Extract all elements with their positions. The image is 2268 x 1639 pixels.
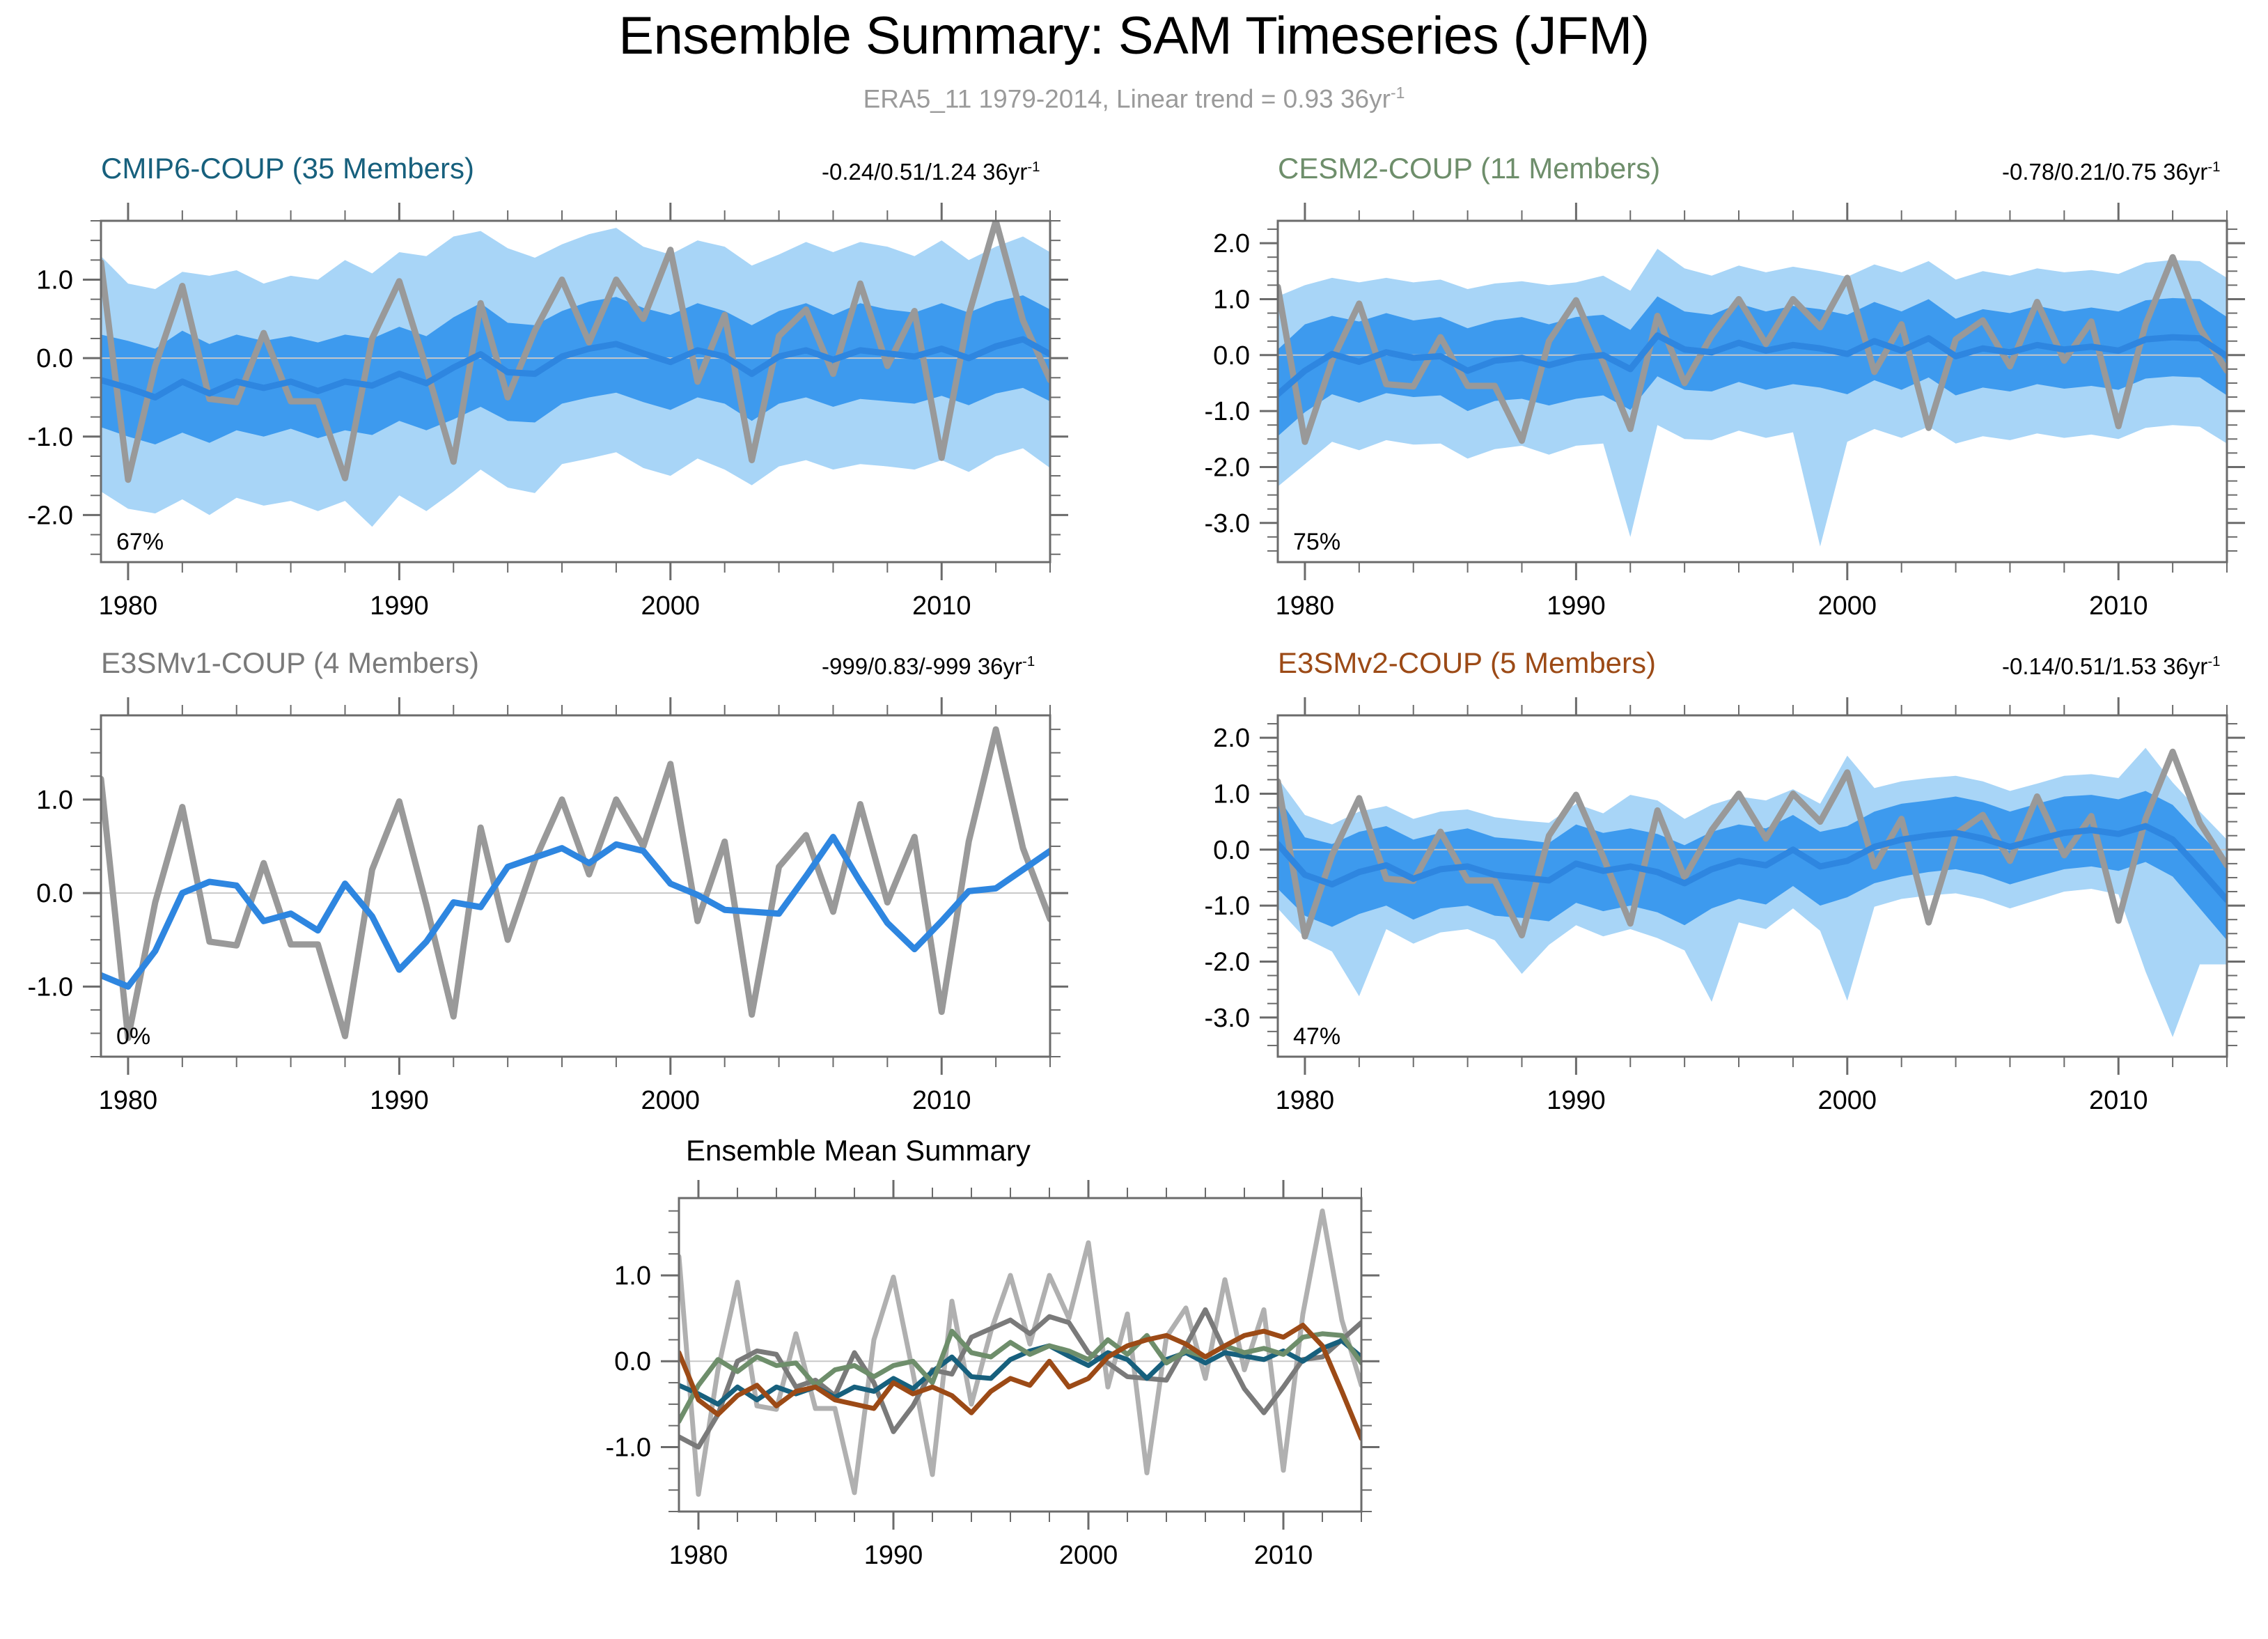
series-line	[101, 729, 1050, 1038]
x-tick-label: 2010	[912, 1086, 971, 1115]
y-tick-label: -1.0	[28, 972, 73, 1002]
y-tick-label: -3.0	[1205, 1004, 1250, 1033]
x-tick-label: 2010	[2089, 1086, 2148, 1115]
x-tick-label: 2000	[641, 1086, 701, 1115]
y-tick-label: 1.0	[1213, 285, 1250, 314]
y-tick-label: -1.0	[28, 423, 73, 452]
figure-canvas: Ensemble Summary: SAM Timeseries (JFM) E…	[0, 0, 2268, 1639]
x-tick-label: 2000	[1818, 1086, 1877, 1115]
x-tick-label: 1990	[370, 1086, 429, 1115]
x-tick-label: 2010	[1254, 1541, 1313, 1570]
y-tick-label: 0.0	[1213, 341, 1250, 371]
x-tick-label: 1980	[669, 1541, 728, 1570]
y-tick-label: -1.0	[1205, 397, 1250, 426]
y-tick-label: -2.0	[1205, 453, 1250, 482]
y-tick-label: 0.0	[36, 879, 73, 908]
x-tick-label: 1980	[1276, 1086, 1335, 1115]
plot-ensemble-mean-summary: 1.00.0-1.01980199020002010	[571, 1156, 1602, 1616]
x-tick-label: 1990	[864, 1541, 923, 1570]
y-tick-label: 0.0	[1213, 836, 1250, 865]
coverage-percent-label: 0%	[116, 1023, 150, 1050]
y-tick-label: -2.0	[1205, 947, 1250, 977]
x-tick-label: 1990	[1547, 1086, 1606, 1115]
y-tick-label: 0.0	[36, 344, 73, 373]
plot-frame	[101, 715, 1050, 1057]
y-tick-label: 2.0	[1213, 724, 1250, 753]
y-tick-label: 1.0	[36, 786, 73, 815]
y-tick-label: 1.0	[1213, 779, 1250, 809]
plot-e3smv1: 1.00.0-1.019801990200020100%	[0, 495, 1114, 1121]
y-tick-label: 0.0	[614, 1347, 651, 1376]
y-tick-label: -1.0	[606, 1434, 651, 1463]
y-tick-label: -1.0	[1205, 892, 1250, 921]
coverage-percent-label: 47%	[1293, 1023, 1340, 1050]
x-tick-label: 2000	[1059, 1541, 1118, 1570]
plot-e3smv2: 2.01.00.0-1.0-2.0-3.0198019902000201047%	[1177, 495, 2268, 1121]
y-tick-label: 2.0	[1213, 229, 1250, 258]
y-tick-label: 1.0	[614, 1261, 651, 1291]
x-tick-label: 1980	[99, 1086, 158, 1115]
y-tick-label: 1.0	[36, 265, 73, 295]
